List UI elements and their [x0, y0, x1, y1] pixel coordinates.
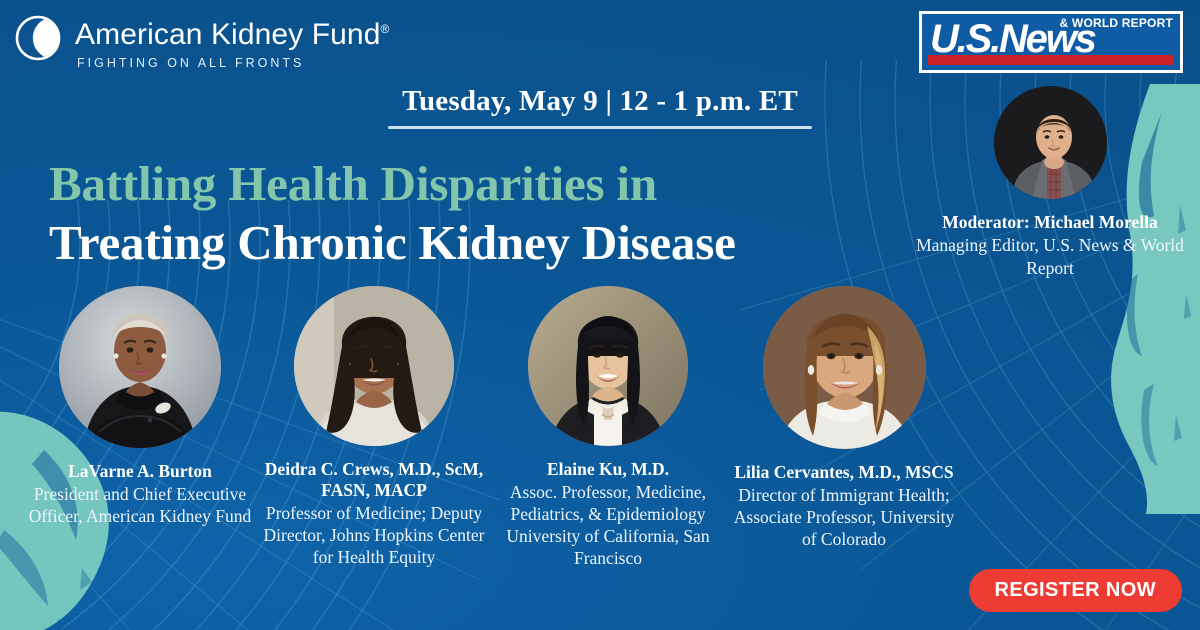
- webinar-promo-banner: American Kidney Fund® FIGHTING ON ALL FR…: [0, 0, 1200, 630]
- headline-line-2: Treating Chronic Kidney Disease: [49, 214, 889, 271]
- headline-line-1: Battling Health Disparities in: [49, 156, 889, 212]
- speaker-card-3: Elaine Ku, M.D. Assoc. Professor, Medici…: [492, 286, 724, 569]
- speaker-2-name: Deidra C. Crews, M.D., ScM, FASN, MACP: [258, 459, 490, 501]
- speaker-card-1: LaVarne A. Burton President and Chief Ex…: [24, 286, 256, 569]
- moderator-avatar: [994, 86, 1107, 199]
- speaker-card-4: Lilia Cervantes, M.D., MSCS Director of …: [728, 286, 960, 569]
- speaker-1-avatar: [59, 286, 221, 448]
- akf-tagline: FIGHTING ON ALL FRONTS: [77, 55, 389, 71]
- speakers-row: LaVarne A. Burton President and Chief Ex…: [24, 286, 1184, 569]
- lilia-cervantes-portrait-illustration: [763, 286, 926, 449]
- speaker-3-name: Elaine Ku, M.D.: [492, 459, 724, 480]
- elaine-ku-portrait-illustration: [528, 286, 688, 446]
- speaker-4-avatar: [763, 286, 926, 449]
- page-title: Battling Health Disparities in Treating …: [49, 156, 889, 271]
- event-date-time: Tuesday, May 9 | 12 - 1 p.m. ET: [402, 84, 798, 118]
- us-news-subtitle: & WORLD REPORT: [1060, 17, 1173, 30]
- speaker-4-role: Director of Immigrant Health; Associate …: [728, 484, 960, 550]
- lavarne-burton-portrait-illustration: [59, 286, 221, 448]
- moderator-name: Moderator: Michael Morella: [914, 211, 1186, 233]
- akf-registered-mark: ®: [381, 22, 390, 36]
- akf-name: American Kidney Fund®: [75, 12, 389, 52]
- speaker-card-2: Deidra C. Crews, M.D., ScM, FASN, MACP P…: [258, 286, 490, 569]
- speaker-4-name: Lilia Cervantes, M.D., MSCS: [728, 462, 960, 483]
- american-kidney-fund-logo[interactable]: American Kidney Fund® FIGHTING ON ALL FR…: [14, 12, 389, 71]
- speaker-2-avatar: [294, 286, 454, 446]
- kidney-circle-logo-icon: [14, 14, 62, 62]
- us-news-logo-inner: U.S.News & WORLD REPORT: [922, 14, 1180, 55]
- akf-name-text: American Kidney Fund: [75, 18, 381, 51]
- speaker-1-role: President and Chief Executive Officer, A…: [24, 483, 256, 527]
- register-now-button[interactable]: REGISTER NOW: [969, 569, 1182, 612]
- deidra-crews-portrait-illustration: [294, 286, 454, 446]
- speaker-1-name: LaVarne A. Burton: [24, 461, 256, 482]
- speaker-3-avatar: [528, 286, 688, 446]
- moderator-role: Managing Editor, U.S. News & World Repor…: [914, 234, 1186, 280]
- date-divider-rule: [388, 126, 812, 129]
- akf-wordmark: American Kidney Fund® FIGHTING ON ALL FR…: [75, 12, 389, 71]
- us-news-world-report-logo[interactable]: U.S.News & WORLD REPORT: [919, 11, 1183, 73]
- speaker-3-role: Assoc. Professor, Medicine, Pediatrics, …: [492, 481, 724, 569]
- moderator-block: Moderator: Michael Morella Managing Edit…: [914, 86, 1186, 280]
- moderator-portrait-illustration: [994, 86, 1107, 199]
- speaker-2-role: Professor of Medicine; Deputy Director, …: [258, 502, 490, 568]
